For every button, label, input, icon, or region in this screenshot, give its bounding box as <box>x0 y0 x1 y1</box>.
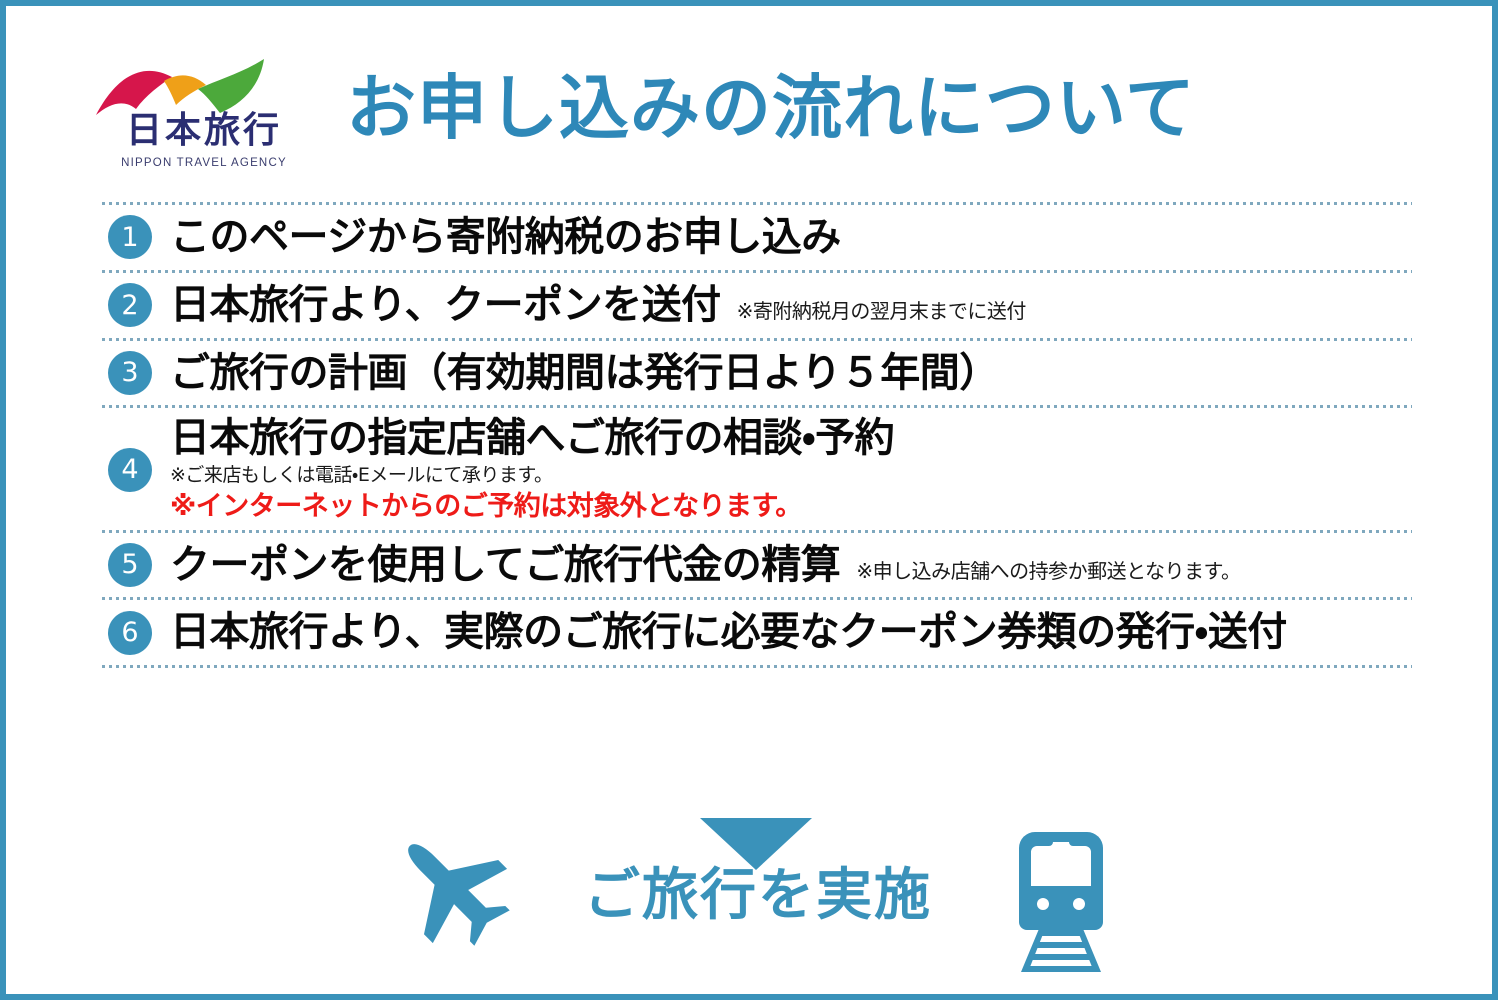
step-body: ご旅行の計画（有効期間は発行日より５年間） <box>170 351 1412 396</box>
step-title: 日本旅行より、クーポンを送付 <box>170 283 721 328</box>
step-main-line: クーポンを使用してご旅行代金の精算 ※申し込み店舗への持参か郵送となります。 <box>170 543 1412 588</box>
train-icon <box>1001 826 1121 976</box>
step-subnote: ※ご来店もしくは電話・Eメールにて承ります。 <box>170 463 1412 489</box>
step-title: クーポンを使用してご旅行代金の精算 <box>170 543 840 588</box>
step-body: 日本旅行の指定店舗へご旅行の相談・予約 ※ご来店もしくは電話・Eメールにて承りま… <box>170 416 1412 523</box>
step-main-line: 日本旅行の指定店舗へご旅行の相談・予約 <box>170 416 1412 461</box>
step-number-badge: 2 <box>108 283 152 327</box>
step-title: ご旅行の計画（有効期間は発行日より５年間） <box>170 351 999 396</box>
step-number-badge: 1 <box>108 215 152 259</box>
step-number-badge: 3 <box>108 351 152 395</box>
step-title: 日本旅行より、実際のご旅行に必要なクーポン券類の発行・送付 <box>170 610 1287 655</box>
step-title: 日本旅行の指定店舗へご旅行の相談・予約 <box>170 416 894 461</box>
step-main-line: ご旅行の計画（有効期間は発行日より５年間） <box>170 351 1412 396</box>
step-note: ※寄附納税月の翌月末までに送付 <box>737 295 1026 324</box>
step-row: 3 ご旅行の計画（有効期間は発行日より５年間） <box>102 341 1412 406</box>
step-body: クーポンを使用してご旅行代金の精算 ※申し込み店舗への持参か郵送となります。 <box>170 543 1412 588</box>
step-row: 2 日本旅行より、クーポンを送付 ※寄附納税月の翌月末までに送付 <box>102 273 1412 338</box>
logo-text-ja: 日本旅行 <box>104 113 304 149</box>
nippon-travel-agency-logo: 日本旅行 NIPPON TRAVEL AGENCY <box>86 33 324 183</box>
step-note: ※申し込み店舗への持参か郵送となります。 <box>856 555 1240 584</box>
divider <box>102 665 1412 668</box>
step-body: このページから寄附納税のお申し込み <box>170 215 1412 260</box>
step-body: 日本旅行より、クーポンを送付 ※寄附納税月の翌月末までに送付 <box>170 283 1412 328</box>
step-number-badge: 6 <box>108 611 152 655</box>
step-row: 5 クーポンを使用してご旅行代金の精算 ※申し込み店舗への持参か郵送となります。 <box>102 533 1412 598</box>
steps-list: 1 このページから寄附納税のお申し込み 2 日本旅行より、クーポンを送付 ※寄附… <box>102 202 1412 668</box>
step-main-line: このページから寄附納税のお申し込み <box>170 215 1412 260</box>
footer-text: ご旅行を実施 <box>584 868 932 924</box>
flyer-page: 日本旅行 NIPPON TRAVEL AGENCY お申し込みの流れについて 1… <box>0 0 1498 1000</box>
step-main-line: 日本旅行より、実際のご旅行に必要なクーポン券類の発行・送付 <box>170 610 1412 655</box>
airplane-icon <box>378 824 523 949</box>
step-title: このページから寄附納税のお申し込み <box>170 215 841 260</box>
step-number-badge: 5 <box>108 543 152 587</box>
logo-text-en: NIPPON TRAVEL AGENCY <box>98 157 310 169</box>
step-subnote-warning: ※インターネットからのご予約は対象外となります。 <box>170 490 1412 524</box>
step-row: 4 日本旅行の指定店舗へご旅行の相談・予約 ※ご来店もしくは電話・Eメールにて承… <box>102 408 1412 529</box>
step-body: 日本旅行より、実際のご旅行に必要なクーポン券類の発行・送付 <box>170 610 1412 655</box>
step-row: 1 このページから寄附納税のお申し込み <box>102 205 1412 270</box>
header: 日本旅行 NIPPON TRAVEL AGENCY お申し込みの流れについて <box>6 28 1492 188</box>
page-title: お申し込みの流れについて <box>346 73 1196 143</box>
step-number-badge: 4 <box>108 448 152 492</box>
step-row: 6 日本旅行より、実際のご旅行に必要なクーポン券類の発行・送付 <box>102 600 1412 665</box>
step-main-line: 日本旅行より、クーポンを送付 ※寄附納税月の翌月末までに送付 <box>170 283 1412 328</box>
